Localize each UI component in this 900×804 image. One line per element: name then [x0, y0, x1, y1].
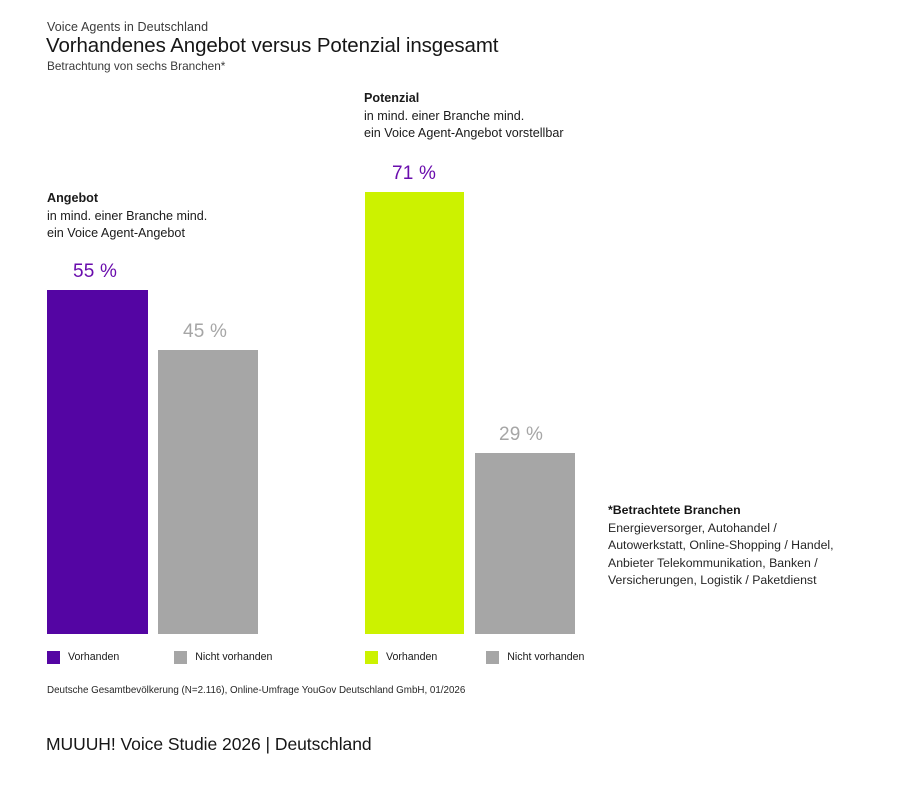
legend-item-nicht-vorhanden-angebot[interactable]: Nicht vorhanden: [174, 651, 272, 664]
bar-potenzial-nicht-vorhanden: [475, 453, 575, 634]
legend-angebot: Vorhanden Nicht vorhanden: [47, 651, 272, 664]
footnote-branches: *Betrachtete Branchen Energieversorger, …: [608, 502, 888, 590]
legend-label: Nicht vorhanden: [195, 651, 272, 664]
footnote-title: *Betrachtete Branchen: [608, 502, 888, 520]
legend-swatch-icon: [486, 651, 499, 664]
legend-label: Vorhanden: [68, 651, 119, 664]
slide-canvas: Voice Agents in Deutschland Vorhandenes …: [0, 0, 900, 804]
legend-label: Vorhanden: [386, 651, 437, 664]
footnote-line-4: Versicherungen, Logistik / Paketdienst: [608, 572, 888, 590]
legend-label: Nicht vorhanden: [507, 651, 584, 664]
legend-swatch-icon: [174, 651, 187, 664]
legend-swatch-icon: [365, 651, 378, 664]
footnote-line-3: Anbieter Telekommunikation, Banken /: [608, 555, 888, 573]
bar-value-potenzial-vorhanden: 71 %: [392, 164, 436, 183]
bar-angebot-vorhanden: [47, 290, 148, 634]
footnote-line-2: Autowerkstatt, Online-Shopping / Handel,: [608, 537, 888, 555]
legend-item-vorhanden-angebot[interactable]: Vorhanden: [47, 651, 119, 664]
legend-potenzial: Vorhanden Nicht vorhanden: [365, 651, 584, 664]
legend-item-vorhanden-potenzial[interactable]: Vorhanden: [365, 651, 437, 664]
source-note: Deutsche Gesamtbevölkerung (N=2.116), On…: [47, 684, 465, 697]
bar-angebot-nicht-vorhanden: [158, 350, 258, 634]
bar-value-angebot-vorhanden: 55 %: [73, 262, 117, 281]
legend-swatch-icon: [47, 651, 60, 664]
footnote-line-1: Energieversorger, Autohandel /: [608, 520, 888, 538]
bar-potenzial-vorhanden: [365, 192, 464, 634]
footer-title: MUUUH! Voice Studie 2026 | Deutschland: [46, 733, 372, 756]
bar-value-angebot-nicht: 45 %: [183, 322, 227, 341]
legend-item-nicht-vorhanden-potenzial[interactable]: Nicht vorhanden: [486, 651, 584, 664]
bar-value-potenzial-nicht: 29 %: [499, 425, 543, 444]
